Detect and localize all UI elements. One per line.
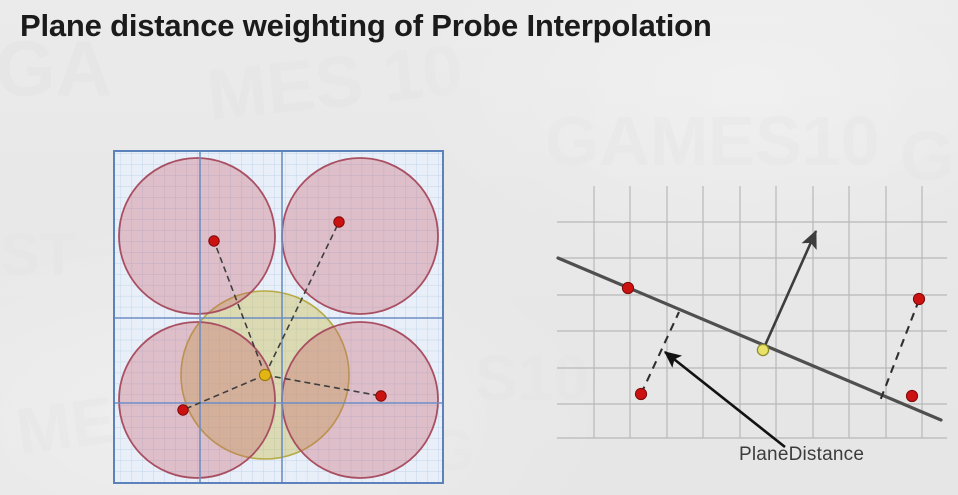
plane-distance-diagram [0,0,958,495]
probe-point-below-plane [635,388,646,399]
plane-distance-label: PlaneDistance [739,444,864,466]
plane-normal-arrow [763,231,816,350]
right-grid-lines [557,186,947,438]
plane-distance-dashed-left [641,312,679,394]
plane-line [558,258,941,420]
probe-point-above-plane [913,293,924,304]
sample-point-on-plane [757,344,768,355]
plane-distance-callout-arrow [665,352,785,447]
probe-point-on-plane-left [622,282,633,293]
slide-canvas: GA MES 10 GAMES10 G ST MES S10 G Plane d… [0,0,958,495]
probe-point-right-low [906,390,917,401]
